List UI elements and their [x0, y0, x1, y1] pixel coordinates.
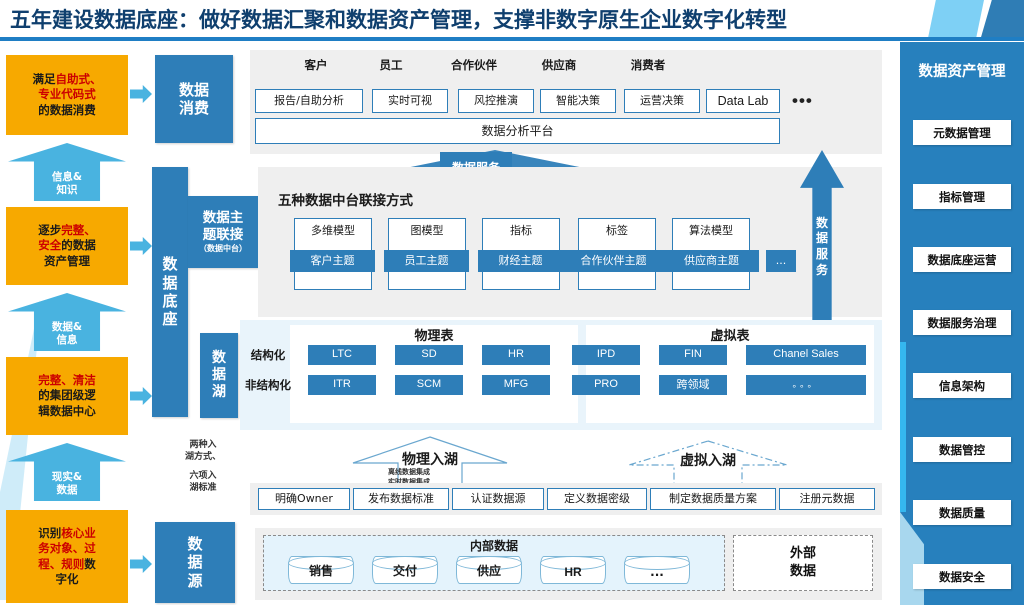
external-data-group: 外部 数据 [733, 535, 873, 591]
stage-label-consumption: 数据 消费 [155, 55, 233, 143]
chevron-right-icon-2 [130, 237, 152, 255]
model-label: 算法模型 [689, 224, 733, 237]
theme-supplier[interactable]: 供应商主题 [664, 250, 759, 272]
table-ltc[interactable]: LTC [308, 345, 376, 365]
stage-label-text-line2: 消费 [179, 99, 209, 117]
theme-customer[interactable]: 客户主题 [290, 250, 375, 272]
arrow-label-line1: 数据& [52, 321, 82, 334]
source-more[interactable]: ... [624, 556, 690, 584]
virtual-table-title: 虚拟表 [586, 328, 874, 346]
title-underline [0, 37, 1024, 41]
physical-ingest-sub1: 离线数据集成 [372, 468, 446, 477]
rail-item-data-control[interactable]: 数据管控 [913, 437, 1011, 462]
arrow-label-line2: 数据 [52, 484, 82, 497]
page-title: 五年建设数据底座：做好数据汇聚和数据资产管理，支撑非数字原生企业数字化转型 [10, 4, 787, 34]
persona-consumer: 消费者 [617, 57, 679, 73]
chevron-right-icon-1 [130, 85, 152, 103]
persona-customer: 客户 [290, 57, 342, 73]
lake-note-line3: 六项入 [168, 470, 238, 482]
rail-item-data-security[interactable]: 数据安全 [913, 564, 1011, 589]
source-supply[interactable]: 供应 [456, 556, 522, 584]
stage-sub-label: （数据中台） [199, 244, 247, 254]
app-more-icon[interactable]: ••• [792, 91, 813, 111]
persona-supplier: 供应商 [528, 57, 590, 73]
rail-item-metadata-management[interactable]: 元数据管理 [913, 120, 1011, 145]
rail-item-information-architecture[interactable]: 信息架构 [913, 373, 1011, 398]
physical-table-title: 物理表 [290, 328, 578, 346]
model-label: 多维模型 [311, 224, 355, 237]
value-column: 满足自助式、 专业代码式 的数据消费 信息& 知识 逐步完整、 安全的数据 资产… [6, 55, 128, 603]
row-label-structured: 结构化 [240, 345, 296, 365]
theme-employee[interactable]: 员工主题 [384, 250, 469, 272]
arrow-label-line1: 现实& [52, 471, 82, 484]
table-scm[interactable]: SCM [395, 375, 463, 395]
transition-arrow-reality-data: 现实& 数据 [8, 443, 126, 501]
rail-title: 数据资产管理 [900, 60, 1024, 81]
virtual-ingest-label: 虚拟入湖 [655, 452, 761, 472]
standard-register-meta[interactable]: 注册元数据 [779, 488, 875, 510]
source-delivery[interactable]: 交付 [372, 556, 438, 584]
data-asset-management-rail: 数据资产管理 元数据管理 指标管理 数据底座运营 数据服务治理 信息架构 数据管… [900, 42, 1024, 605]
value-box-logical-center: 完整、清洁 的集团级逻 辑数据中心 [6, 357, 128, 435]
app-smart-decision[interactable]: 智能决策 [540, 89, 616, 113]
table-cross-domain[interactable]: 跨领域 [659, 375, 727, 395]
stage-label-text-line1: 数据 [179, 81, 209, 99]
arrow-label-line2: 信息 [52, 334, 82, 347]
table-fin[interactable]: FIN [659, 345, 727, 365]
value-box-core-objects: 识别核心业 务对象、过 程、规则数 字化 [6, 510, 128, 603]
title-band: 五年建设数据底座：做好数据汇聚和数据资产管理，支撑非数字原生企业数字化转型 [0, 0, 1024, 40]
slide-canvas: 五年建设数据底座：做好数据汇聚和数据资产管理，支撑非数字原生企业数字化转型 满足… [0, 0, 1024, 605]
value-box-asset: 逐步完整、 安全的数据 资产管理 [6, 207, 128, 285]
rail-item-foundation-operation[interactable]: 数据底座运营 [913, 247, 1011, 272]
rail-item-metric-management[interactable]: 指标管理 [913, 184, 1011, 209]
analysis-platform-bar[interactable]: 数据分析平台 [255, 118, 780, 144]
external-data-line2: 数据 [790, 563, 816, 581]
model-label: 图模型 [411, 224, 444, 237]
lake-note-line4: 湖标准 [165, 482, 241, 494]
model-label: 标签 [606, 224, 628, 237]
app-realtime-visual[interactable]: 实时可视 [372, 89, 448, 113]
table-more[interactable]: 。。。 [746, 375, 866, 395]
theme-connect-heading: 五种数据中台联接方式 [278, 192, 478, 210]
chevron-right-icon-4 [130, 555, 152, 573]
standard-quality-plan[interactable]: 制定数据质量方案 [650, 488, 776, 510]
corner-decoration-dark [978, 0, 1024, 38]
stage-label-foundation: 数据 底座 [152, 167, 188, 417]
external-data-line1: 外部 [790, 545, 816, 563]
rail-item-data-quality[interactable]: 数据质量 [913, 500, 1011, 525]
arrow-label-line1: 信息& [52, 171, 82, 184]
app-data-lab[interactable]: Data Lab [706, 89, 780, 113]
table-mfg[interactable]: MFG [482, 375, 550, 395]
standard-publish[interactable]: 发布数据标准 [353, 488, 449, 510]
arrow-label-line2: 知识 [52, 184, 82, 197]
persona-employee: 员工 [370, 57, 412, 73]
row-label-unstructured: 非结构化 [236, 375, 300, 395]
table-itr[interactable]: ITR [308, 375, 376, 395]
table-sd[interactable]: SD [395, 345, 463, 365]
lake-note-line2: 湖方式、 [165, 451, 241, 463]
transition-arrow-data-info: 数据& 信息 [8, 293, 126, 351]
theme-more[interactable]: ... [766, 250, 796, 272]
table-ipd[interactable]: IPD [572, 345, 640, 365]
internal-data-title: 内部数据 [263, 538, 725, 554]
standard-owner[interactable]: 明确Owner [258, 488, 350, 510]
rail-item-service-governance[interactable]: 数据服务治理 [913, 310, 1011, 335]
stage-label-theme-connect: 数据主 题联接 （数据中台） [188, 196, 258, 268]
theme-finance[interactable]: 财经主题 [478, 250, 563, 272]
rail-accent-bar [900, 342, 906, 512]
standard-classify[interactable]: 定义数据密级 [547, 488, 647, 510]
stage-label-data-lake: 数据湖 [200, 333, 238, 418]
model-label: 指标 [510, 224, 532, 237]
chevron-right-icon-3 [130, 387, 152, 405]
lake-note-line1: 两种入 [168, 439, 238, 451]
app-report-self-service[interactable]: 报告/自助分析 [255, 89, 363, 113]
rail-decoration-band [900, 512, 924, 605]
app-ops-decision[interactable]: 运营决策 [624, 89, 700, 113]
stage-label-data-source: 数据源 [155, 522, 235, 603]
table-pro[interactable]: PRO [572, 375, 640, 395]
standard-certify[interactable]: 认证数据源 [452, 488, 544, 510]
source-sales[interactable]: 销售 [288, 556, 354, 584]
table-chanel-sales[interactable]: Chanel Sales [746, 345, 866, 365]
transition-arrow-info-knowledge: 信息& 知识 [8, 143, 126, 201]
persona-partner: 合作伙伴 [440, 57, 508, 73]
theme-partner[interactable]: 合作伙伴主题 [562, 250, 665, 272]
app-risk-simulation[interactable]: 风控推演 [458, 89, 534, 113]
corner-decoration-light [928, 0, 984, 38]
table-hr[interactable]: HR [482, 345, 550, 365]
value-box-consumption: 满足自助式、 专业代码式 的数据消费 [6, 55, 128, 135]
source-hr[interactable]: HR [540, 556, 606, 584]
